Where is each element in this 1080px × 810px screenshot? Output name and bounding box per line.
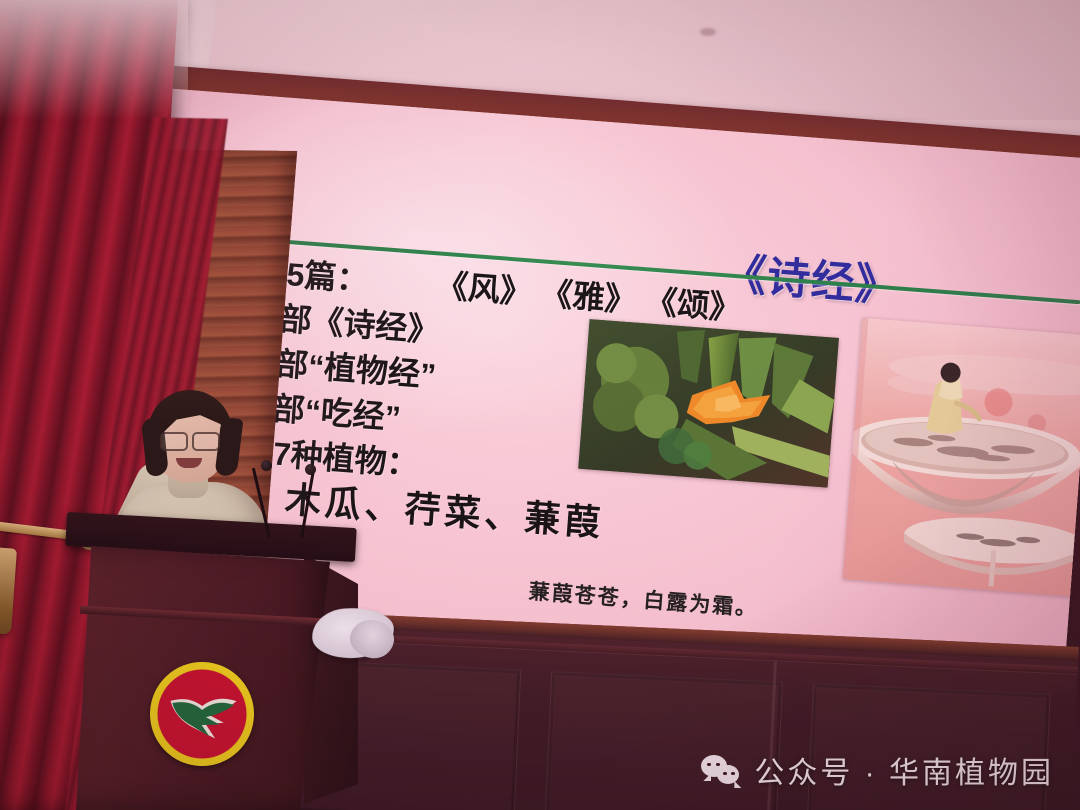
organization-emblem xyxy=(148,660,256,768)
emblem-bird-icon xyxy=(148,660,256,768)
photo-scene: 《诗经》 305篇： 《风》 《雅》 《颂》 一部《诗经》 半部“植物经” 半部… xyxy=(0,0,1080,810)
watermark: 公众号 · 华南植物园 xyxy=(701,748,1054,792)
glasses-icon xyxy=(160,432,220,447)
wechat-icon xyxy=(701,755,741,785)
orange-flower-photo xyxy=(578,319,839,488)
microphone-head xyxy=(305,464,316,475)
bowl-illustration-svg xyxy=(843,318,1080,597)
curtain-top-highlight xyxy=(0,0,188,120)
flower-photo-svg xyxy=(578,319,839,488)
ceiling-fixture xyxy=(700,28,716,36)
bowl-illustration xyxy=(843,318,1080,597)
microphone-head xyxy=(261,460,272,471)
watermark-text: 公众号 · 华南植物园 xyxy=(754,748,1054,792)
